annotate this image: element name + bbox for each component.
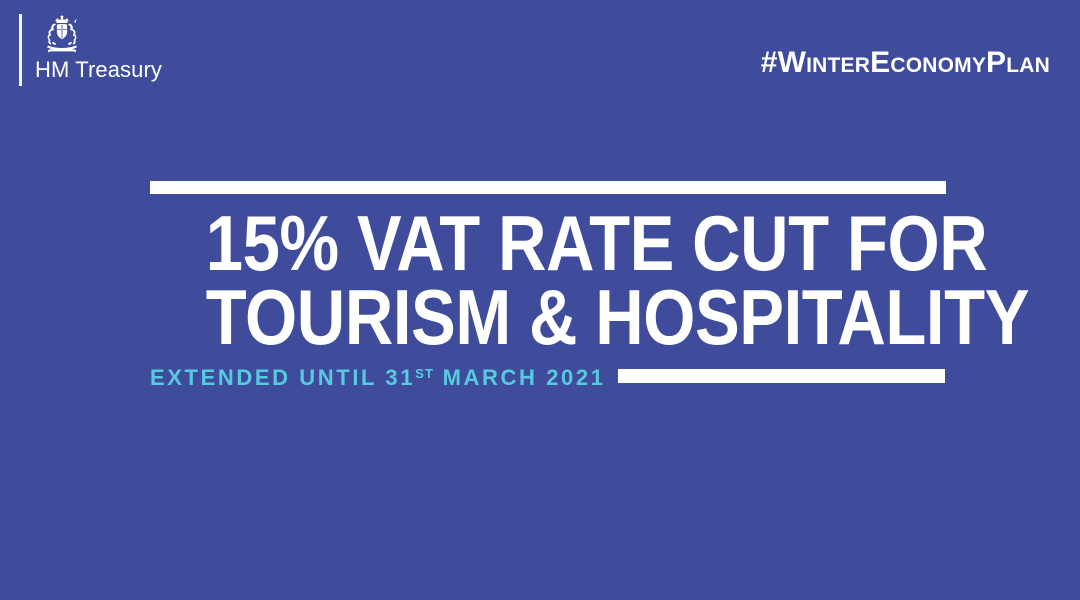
subline-ordinal: ST [415,366,434,381]
brand-name: HM Treasury [35,57,162,83]
subline-rule [618,369,945,383]
brand-body: HM Treasury [35,14,162,86]
subline-text: EXTENDED UNTIL 31ST MARCH 2021 [150,361,606,391]
brand-vertical-rule [19,14,22,86]
royal-coat-of-arms-icon [35,14,89,54]
campaign-hashtag: #WinterEconomyPlan [761,46,1050,80]
poster-canvas: HM Treasury #WinterEconomyPlan 15% VAT R… [0,0,1080,600]
subline-prefix: EXTENDED UNTIL 31 [150,365,415,390]
headline-line-2: TOURISM & HOSPITALITY [206,279,891,355]
subline-suffix: MARCH 2021 [434,365,606,390]
headline-line-1: 15% VAT RATE CUT FOR [206,205,891,281]
top-rule [150,181,946,194]
message-block: 15% VAT RATE CUT FOR TOURISM & HOSPITALI… [150,181,946,391]
subline-row: EXTENDED UNTIL 31ST MARCH 2021 [150,361,946,391]
hm-treasury-logo: HM Treasury [19,14,162,86]
